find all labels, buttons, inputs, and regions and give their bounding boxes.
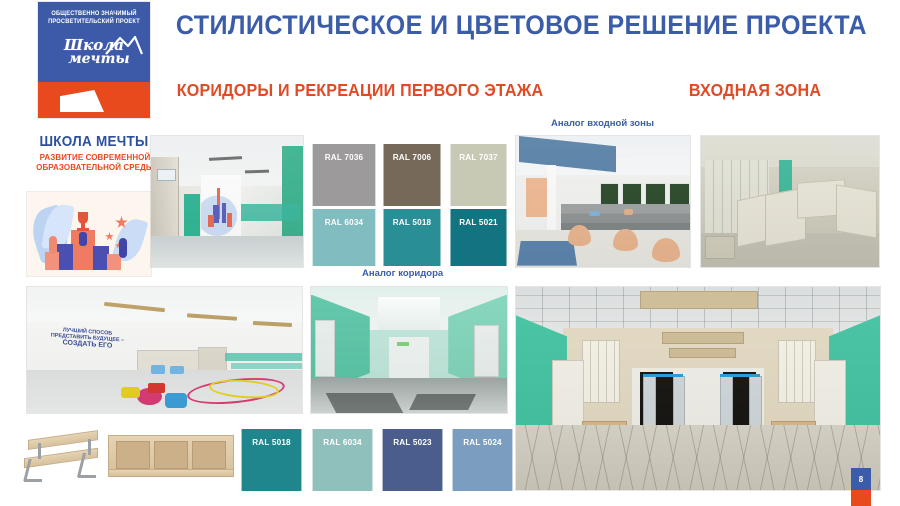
swatch-label: RAL 5018	[252, 437, 291, 447]
brand-name: ШКОЛА МЕЧТЫ	[33, 133, 155, 150]
section-heading-entrance: ВХОДНАЯ ЗОНА	[631, 80, 879, 101]
swatch-label: RAL 5021	[459, 217, 498, 227]
caption-entrance-analog: Аналог входной зоны	[551, 118, 654, 129]
swatch-ral-5021: RAL 5021	[450, 209, 506, 266]
logo-tagline-line2: ПРОСВЕТИТЕЛЬСКИЙ ПРОЕКТ	[42, 18, 145, 26]
swatch-label: RAL 6034	[325, 217, 364, 227]
swatch-ral-5024-entrance: RAL 5024	[453, 429, 513, 491]
furniture-photos	[16, 421, 238, 499]
swatch-ral-6034-entrance: RAL 6034	[313, 429, 373, 491]
swatch-ral-7006: RAL 7006	[384, 144, 441, 206]
page-accent-bar	[851, 490, 871, 506]
school-corridor-photo	[151, 136, 303, 267]
page-number-badge: 8	[851, 468, 871, 490]
wooden-shoe-shelf	[108, 435, 232, 481]
swatch-label: RAL 7037	[459, 152, 498, 162]
swatch-label: RAL 6034	[323, 437, 362, 447]
brand-subtitle-line2: ОБРАЗОВАТЕЛЬНОЙ СРЕДЫ	[29, 162, 161, 172]
caption-corridor-analog: Аналог коридора	[362, 268, 443, 279]
logo-house-shape	[38, 82, 150, 118]
existing-stair-hall-photo	[701, 136, 879, 267]
entrance-hall-analog-render	[516, 136, 690, 267]
roof-outline-icon	[104, 34, 144, 56]
swatch-label: RAL 5023	[393, 437, 432, 447]
swatch-label: RAL 7006	[393, 152, 432, 162]
swatch-ral-7036: RAL 7036	[313, 144, 376, 206]
entrance-lobby-render	[516, 287, 880, 490]
recreation-area-render: ЛУЧШИЙ СПОСОБ ПРЕДСТАВИТЬ БУДУЩЕЕ – СОЗД…	[27, 287, 302, 413]
page-title: СТИЛИСТИЧЕСКОЕ И ЦВЕТОВОЕ РЕШЕНИЕ ПРОЕКТ…	[176, 10, 864, 41]
swatch-ral-5023-entrance: RAL 5023	[383, 429, 443, 491]
section-heading-corridors: КОРИДОРЫ И РЕКРЕАЦИИ ПЕРВОГО ЭТАЖА	[167, 80, 553, 101]
teal-corridor-render	[311, 287, 507, 413]
wooden-bench	[22, 431, 100, 483]
brand-subtitle-line1: РАЗВИТИЕ СОВРЕМЕННОЙ	[29, 152, 161, 162]
swatch-ral-7037: RAL 7037	[450, 144, 506, 206]
swatch-label: RAL 7036	[325, 152, 364, 162]
brand-subtitle: РАЗВИТИЕ СОВРЕМЕННОЙ ОБРАЗОВАТЕЛЬНОЙ СРЕ…	[29, 152, 161, 173]
logo-tagline-line1: ОБЩЕСТВЕННО ЗНАЧИМЫЙ	[42, 10, 145, 18]
slide-canvas: ОБЩЕСТВЕННО ЗНАЧИМЫЙ ПРОСВЕТИТЕЛЬСКИЙ ПР…	[0, 0, 900, 506]
page-number: 8	[859, 475, 863, 484]
swatch-label: RAL 5018	[393, 217, 432, 227]
project-logo-badge: ОБЩЕСТВЕННО ЗНАЧИМЫЙ ПРОСВЕТИТЕЛЬСКИЙ ПР…	[38, 2, 150, 118]
podium-trophy-illustration	[27, 192, 151, 276]
swatch-label: RAL 5024	[463, 437, 502, 447]
swatch-ral-6034: RAL 6034	[313, 209, 376, 266]
logo-tagline: ОБЩЕСТВЕННО ЗНАЧИМЫЙ ПРОСВЕТИТЕЛЬСКИЙ ПР…	[42, 10, 145, 26]
swatch-ral-5018-entrance: RAL 5018	[242, 429, 302, 491]
swatch-ral-5018: RAL 5018	[384, 209, 441, 266]
